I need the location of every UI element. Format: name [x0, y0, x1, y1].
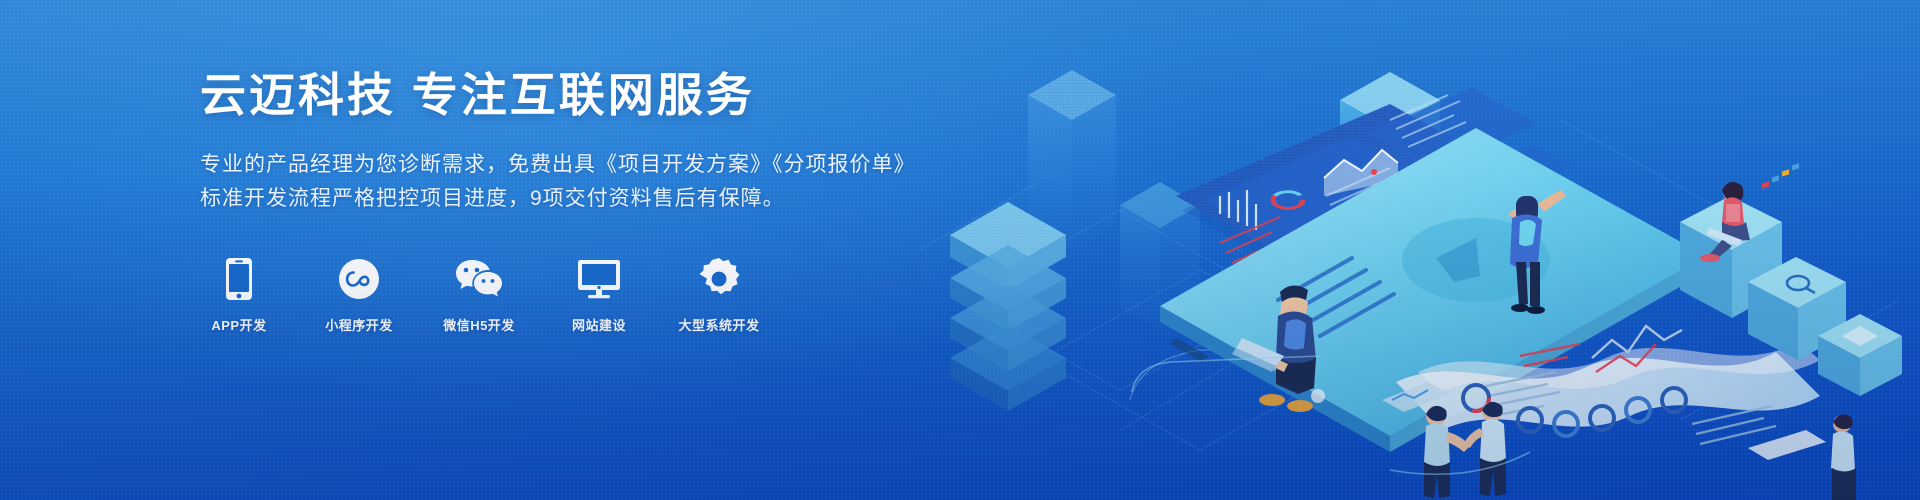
service-item-website[interactable]: 网站建设	[560, 256, 638, 334]
page-title: 云迈科技 专注互联网服务	[200, 70, 920, 122]
gear-icon	[698, 256, 740, 302]
wechat-icon	[454, 256, 504, 302]
monitor-icon	[577, 256, 621, 302]
service-item-wechat-h5[interactable]: 微信H5开发	[440, 256, 518, 334]
subtitle-block: 专业的产品经理为您诊断需求，免费出具《项目开发方案》《分项报价单》 标准开发流程…	[200, 148, 920, 216]
mobile-phone-icon	[225, 256, 253, 302]
service-label: 小程序开发	[325, 315, 393, 334]
subtitle-line-1: 专业的产品经理为您诊断需求，免费出具《项目开发方案》《分项报价单》	[200, 148, 920, 182]
mini-program-icon	[338, 256, 380, 302]
service-label: 微信H5开发	[443, 315, 515, 334]
service-label: 网站建设	[572, 315, 626, 334]
service-item-miniprogram[interactable]: 小程序开发	[320, 256, 398, 334]
banner-copy: 云迈科技 专注互联网服务 专业的产品经理为您诊断需求，免费出具《项目开发方案》《…	[200, 70, 920, 334]
service-item-large-system[interactable]: 大型系统开发	[680, 256, 758, 334]
service-label: APP开发	[211, 315, 266, 334]
service-item-app[interactable]: APP开发	[200, 256, 278, 334]
service-list: APP开发 小程序开发	[200, 256, 920, 334]
subtitle-line-2: 标准开发流程严格把控项目进度，9项交付资料售后有保障。	[200, 182, 920, 216]
hero-illustration	[920, 0, 1920, 500]
promo-banner: 云迈科技 专注互联网服务 专业的产品经理为您诊断需求，免费出具《项目开发方案》《…	[0, 0, 1920, 500]
service-label: 大型系统开发	[679, 315, 760, 334]
